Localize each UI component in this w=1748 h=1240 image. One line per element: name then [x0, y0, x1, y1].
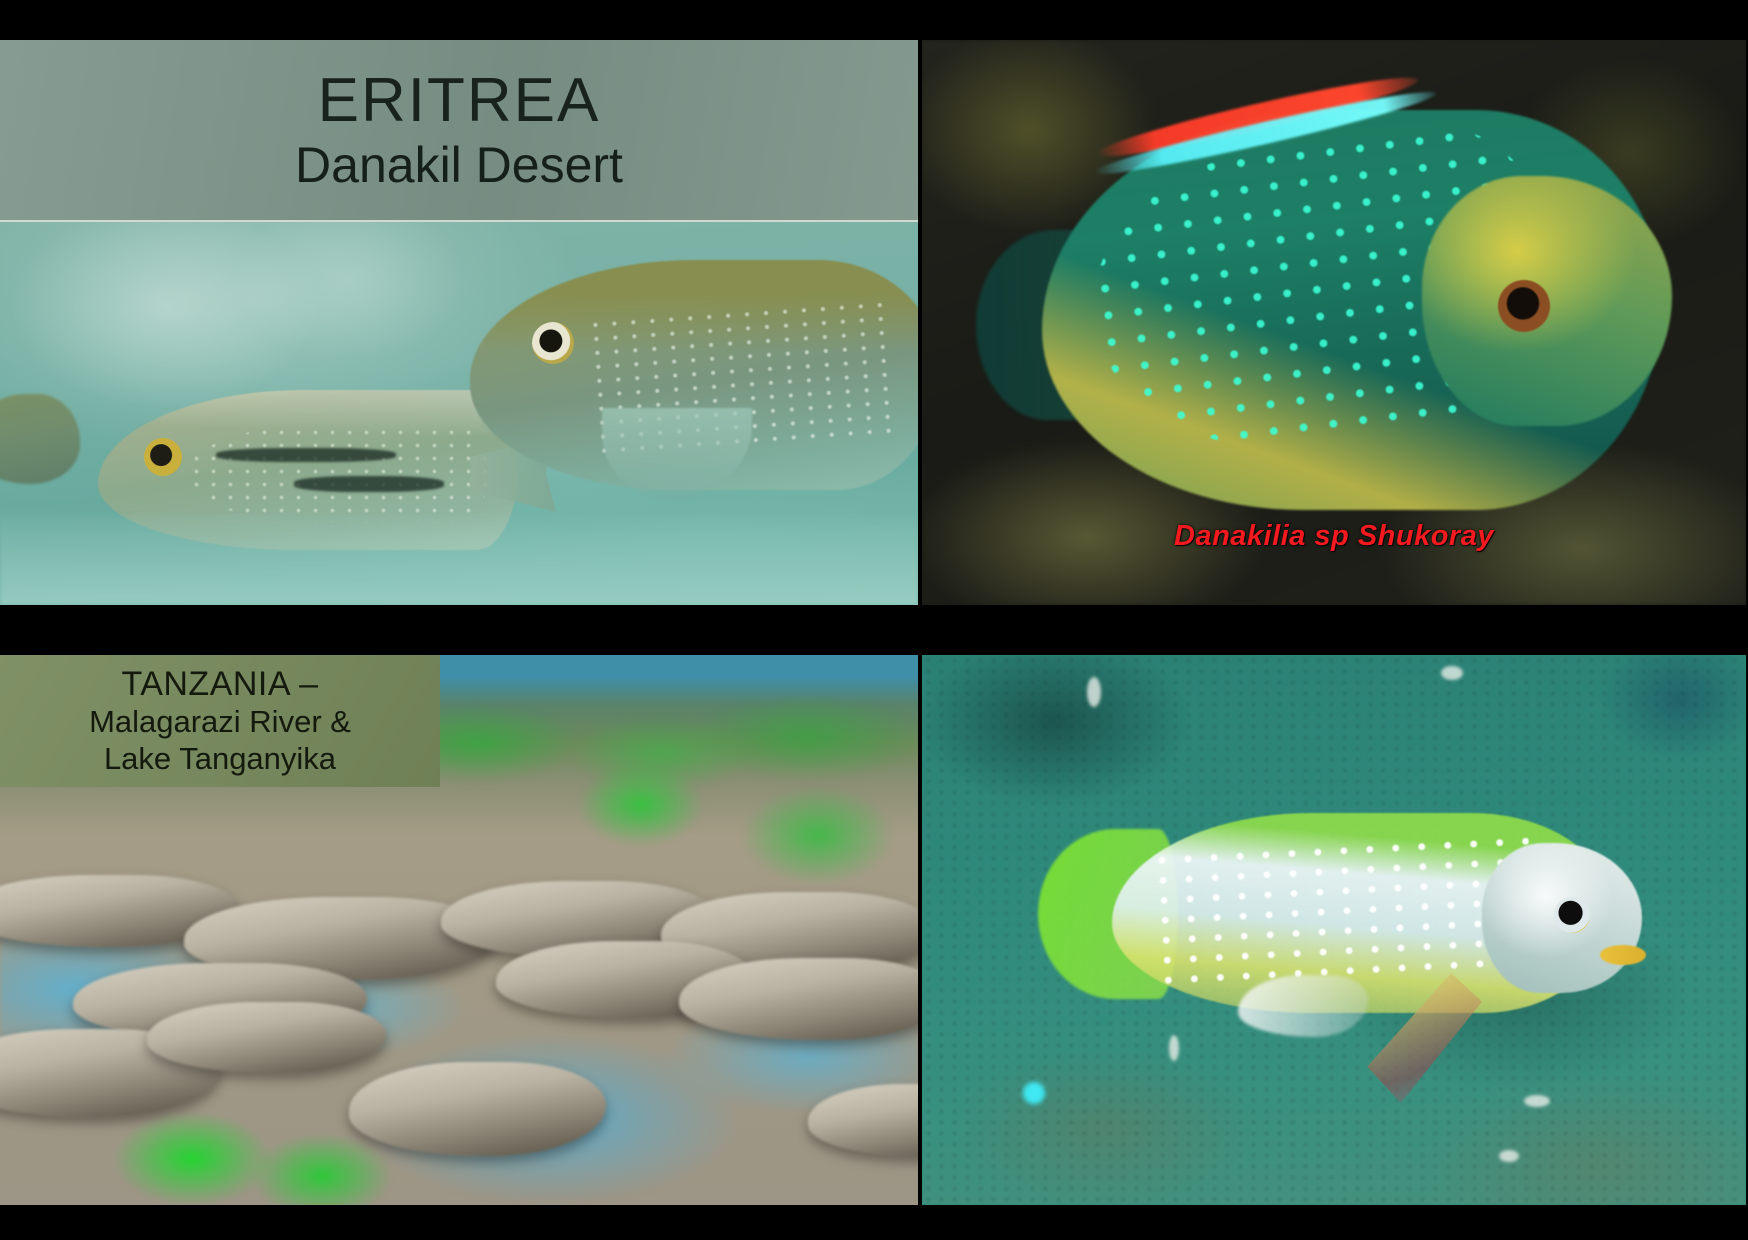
fish-scale-dots — [188, 426, 488, 522]
eritrea-aquarium-photo — [0, 222, 918, 605]
danakilia-cichlid — [982, 80, 1682, 550]
panel-tanzania: TANZANIA – Malagarazi River & Lake Tanga… — [0, 655, 918, 1205]
fish-pearl-spots — [1149, 831, 1536, 991]
floating-debris — [1441, 666, 1463, 680]
eritrea-title-region: Danakil Desert — [295, 140, 623, 190]
fish-lateral-stripe — [216, 448, 396, 462]
panel-eritrea: ERITREA Danakil Desert — [0, 40, 918, 605]
rock-outcrop — [679, 958, 918, 1041]
fish-pectoral-fin — [1238, 975, 1368, 1037]
fish-eye — [1554, 897, 1590, 933]
eritrea-title-bar: ERITREA Danakil Desert — [0, 40, 918, 222]
cichlid-fish-large — [470, 260, 918, 490]
fish-lateral-stripe — [294, 476, 444, 492]
floating-debris — [1499, 1150, 1519, 1162]
midground-grass — [514, 743, 918, 897]
tanzania-label-box: TANZANIA – Malagarazi River & Lake Tanga… — [0, 655, 440, 787]
fish-eye — [144, 438, 182, 476]
tank-floor — [0, 515, 918, 605]
fish-lip — [1600, 945, 1646, 965]
floating-debris — [1087, 677, 1101, 707]
species-caption: Danakilia sp Shukoray — [922, 520, 1746, 553]
tanzania-label-country: TANZANIA – — [121, 664, 318, 704]
tanganyika-cichlid — [1042, 785, 1622, 1085]
tanzania-label-river: Malagarazi River & — [89, 704, 351, 741]
floating-debris — [1524, 1095, 1550, 1107]
rock-outcrop — [147, 1002, 386, 1074]
panel-tanganyika-video — [922, 655, 1746, 1205]
slide-canvas: ERITREA Danakil Desert Danakilia sp Shuk… — [0, 0, 1748, 1240]
tanzania-label-lake: Lake Tanganyika — [104, 741, 336, 778]
fish-eye — [532, 322, 574, 364]
eritrea-title-country: ERITREA — [318, 70, 601, 132]
panel-danakilia-video: Danakilia sp Shukoray — [922, 40, 1746, 605]
fish-eye — [1498, 280, 1550, 332]
background-fish-partial — [0, 394, 80, 484]
foreground-grass — [55, 1073, 459, 1205]
